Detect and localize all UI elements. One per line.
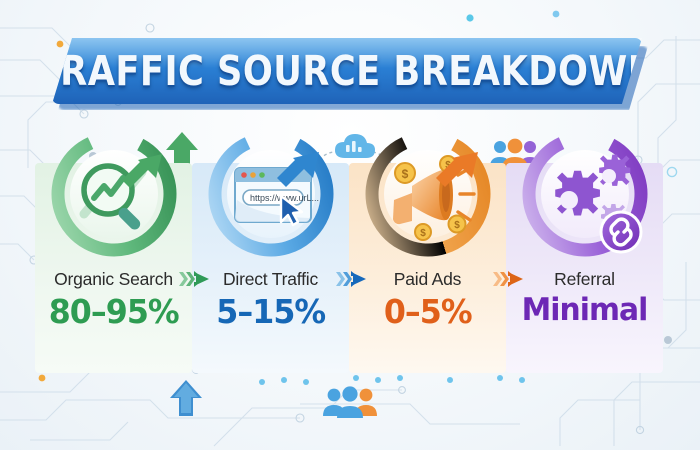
svg-text:$: $ <box>420 228 426 239</box>
title-banner: TRAFFIC SOURCE BREAKDOWN <box>52 38 648 110</box>
browser-window-icon: https://www.urL... <box>203 128 339 264</box>
card-value: 0–5% <box>384 292 472 331</box>
chevron-right-icon <box>335 268 369 290</box>
card-referral[interactable]: Referral Minimal <box>506 163 663 373</box>
arrow-up-icon <box>168 378 204 418</box>
banner-body: TRAFFIC SOURCE BREAKDOWN <box>52 38 642 104</box>
page-title: TRAFFIC SOURCE BREAKDOWN <box>36 47 658 95</box>
card-value: 5–15% <box>216 292 325 331</box>
gears-link-icon <box>517 128 653 264</box>
card-paid-ads[interactable]: $ $ $ $ Paid Ads 0–5% <box>349 163 506 373</box>
people-group-icon <box>322 385 378 419</box>
card-label: Paid Ads <box>394 269 461 290</box>
card-value: Minimal <box>522 292 648 328</box>
chevron-right-icon <box>492 268 526 290</box>
magnifier-chart-icon <box>46 128 182 264</box>
card-value: 80–95% <box>48 292 178 331</box>
card-label: Direct Traffic <box>223 269 318 290</box>
svg-text:$: $ <box>401 167 408 181</box>
chevron-right-icon <box>178 268 212 290</box>
megaphone-coins-icon: $ $ $ $ <box>360 128 496 264</box>
card-label: Organic Search <box>54 269 173 290</box>
card-label: Referral <box>554 269 615 290</box>
infographic-poster: TRAFFIC SOURCE BREAKDOWN <box>0 0 700 450</box>
card-organic-search[interactable]: Organic Search 80–95% <box>35 163 192 373</box>
card-direct-traffic[interactable]: https://www.urL... Direct Traffic 5–15% <box>192 163 349 373</box>
svg-text:$: $ <box>454 220 460 231</box>
